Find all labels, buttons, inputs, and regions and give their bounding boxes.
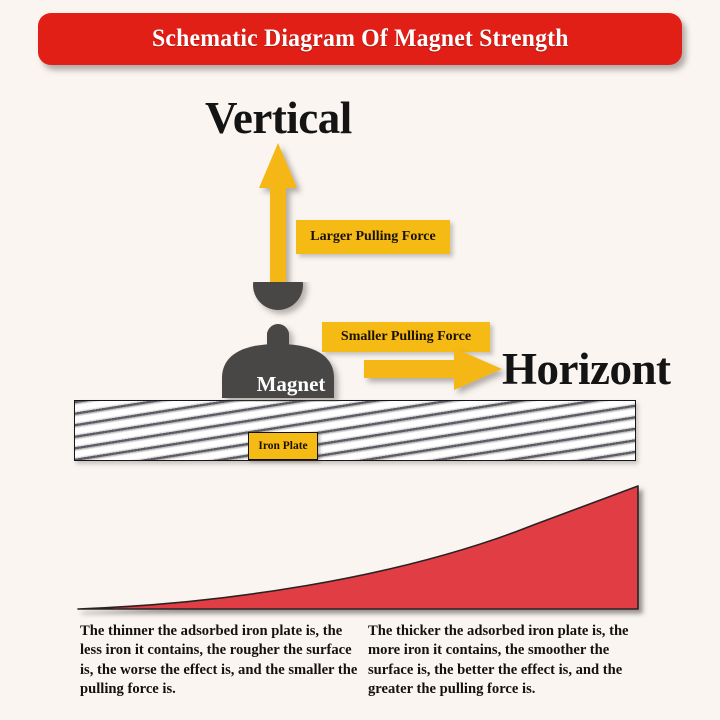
iron-plate-tag: Iron Plate xyxy=(248,432,318,460)
growth-curve-icon xyxy=(66,476,652,618)
caption-left: The thinner the adsorbed iron plate is, … xyxy=(80,622,360,699)
page-title: Schematic Diagram Of Magnet Strength xyxy=(152,25,569,53)
diagram-canvas: Schematic Diagram Of Magnet Strength Ver… xyxy=(0,0,720,720)
arrow-right-icon xyxy=(362,344,510,398)
larger-pulling-force-tag: Larger Pulling Force xyxy=(296,220,450,254)
vertical-direction-label: Vertical xyxy=(205,92,352,144)
iron-plate-text: Iron Plate xyxy=(258,440,307,452)
magnet-icon xyxy=(216,282,366,402)
hatched-plate-icon xyxy=(74,400,636,461)
caption-right: The thicker the adsorbed iron plate is, … xyxy=(368,622,656,699)
title-banner: Schematic Diagram Of Magnet Strength xyxy=(38,13,682,65)
larger-pulling-force-text: Larger Pulling Force xyxy=(310,229,435,245)
horizontal-direction-label: Horizont xyxy=(502,343,670,395)
